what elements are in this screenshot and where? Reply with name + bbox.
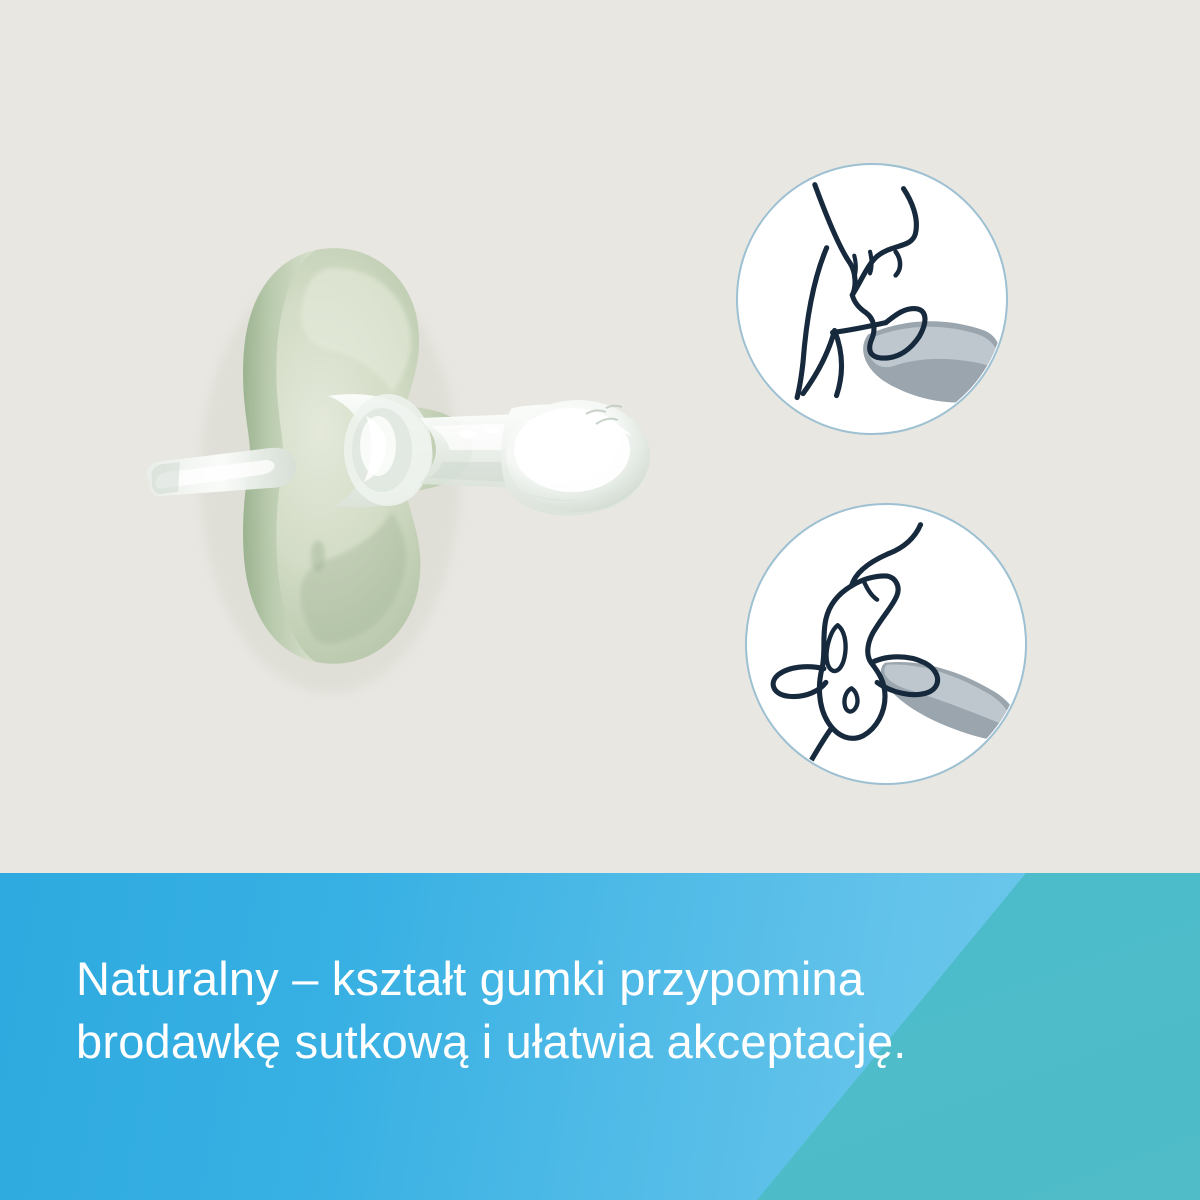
pacifier-product-photo bbox=[120, 210, 680, 710]
illustration-pacifier-shape bbox=[745, 503, 1027, 785]
caption-band: Naturalny – kształt gumki przypomina bro… bbox=[0, 873, 1200, 1200]
illustration-nursing-profile bbox=[736, 163, 1008, 435]
promo-image-canvas: Naturalny – kształt gumki przypomina bro… bbox=[0, 0, 1200, 1200]
pacifier-teat bbox=[501, 400, 650, 516]
caption-text: Naturalny – kształt gumki przypomina bro… bbox=[76, 947, 1036, 1073]
shield-dimple bbox=[311, 540, 325, 572]
